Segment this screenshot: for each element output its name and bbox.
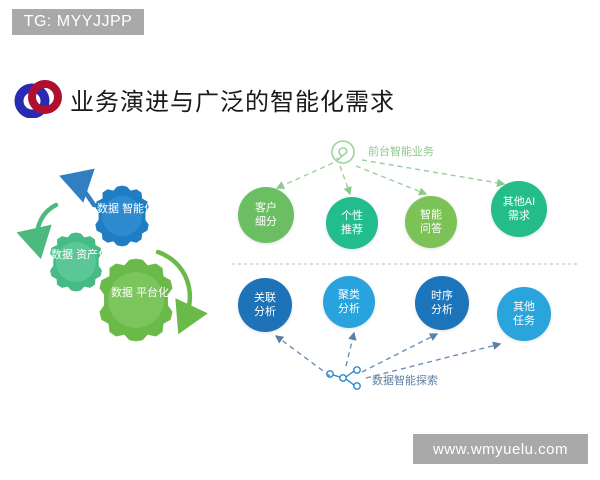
node-label-line1: 关联 [254,291,276,305]
node-label-line1: 其他 [513,300,535,314]
node-intelligent-qa[interactable]: 智能 问答 [405,196,457,248]
node-label-line2: 分析 [338,302,360,316]
node-other-ai-demand[interactable]: 其他AI 需求 [491,181,547,237]
node-label-line2: 推荐 [341,223,363,237]
top-group-caption: 前台智能业务 [368,143,434,159]
connector-to-intelligent-qa [356,166,426,194]
node-association-analysis[interactable]: 关联 分析 [238,278,292,332]
node-customer-segmentation[interactable]: 客户 细分 [238,187,294,243]
node-label-line2: 分析 [431,303,453,317]
top-connector-arrows [277,160,504,194]
connector-to-clustering-analysis [346,333,354,366]
node-label-line2: 问答 [420,222,442,236]
node-label-line1: 客户 [255,201,277,215]
data-assetization-gear-shape [50,233,102,292]
connector-to-other-ai-demand [362,160,504,184]
node-other-tasks[interactable]: 其他 任务 [497,287,551,341]
gear-cluster [37,180,190,341]
connector-to-time-series-analysis [362,334,437,372]
node-label-line1: 时序 [431,289,453,303]
share-network-icon [327,367,360,389]
target-arrow-icon [332,141,354,163]
node-clustering-analysis[interactable]: 聚类 分析 [323,276,375,328]
node-label-line2: 细分 [255,215,277,229]
bottom-group-caption: 数据智能探索 [372,372,438,388]
connector-to-personalized-recommendation [340,166,350,194]
node-label-line1: 智能 [420,208,442,222]
connector-to-association-analysis [276,336,330,376]
gear-arrow-blue [72,180,94,205]
site-watermark-banner: www.wmyuelu.com [413,434,588,464]
node-personalized-recommendation[interactable]: 个性 推荐 [326,197,378,249]
slide-canvas: TG: MYYJJPP 业务演进与广泛的智能化需求 [0,0,600,480]
diagram-graphics-layer [0,0,600,480]
node-label-line2: 分析 [254,305,276,319]
node-label-line1: 其他AI [503,195,535,209]
node-label-line1: 个性 [341,209,363,223]
data-intelligence-gear-shape [95,186,148,247]
node-time-series-analysis[interactable]: 时序 分析 [415,276,469,330]
connector-to-customer-segmentation [277,163,333,188]
node-label-line2: 需求 [508,209,530,223]
gear-arrow-teal [37,205,56,246]
node-label-line1: 聚类 [338,288,360,302]
data-platform-gear-shape [100,259,173,342]
node-label-line2: 任务 [513,314,535,328]
